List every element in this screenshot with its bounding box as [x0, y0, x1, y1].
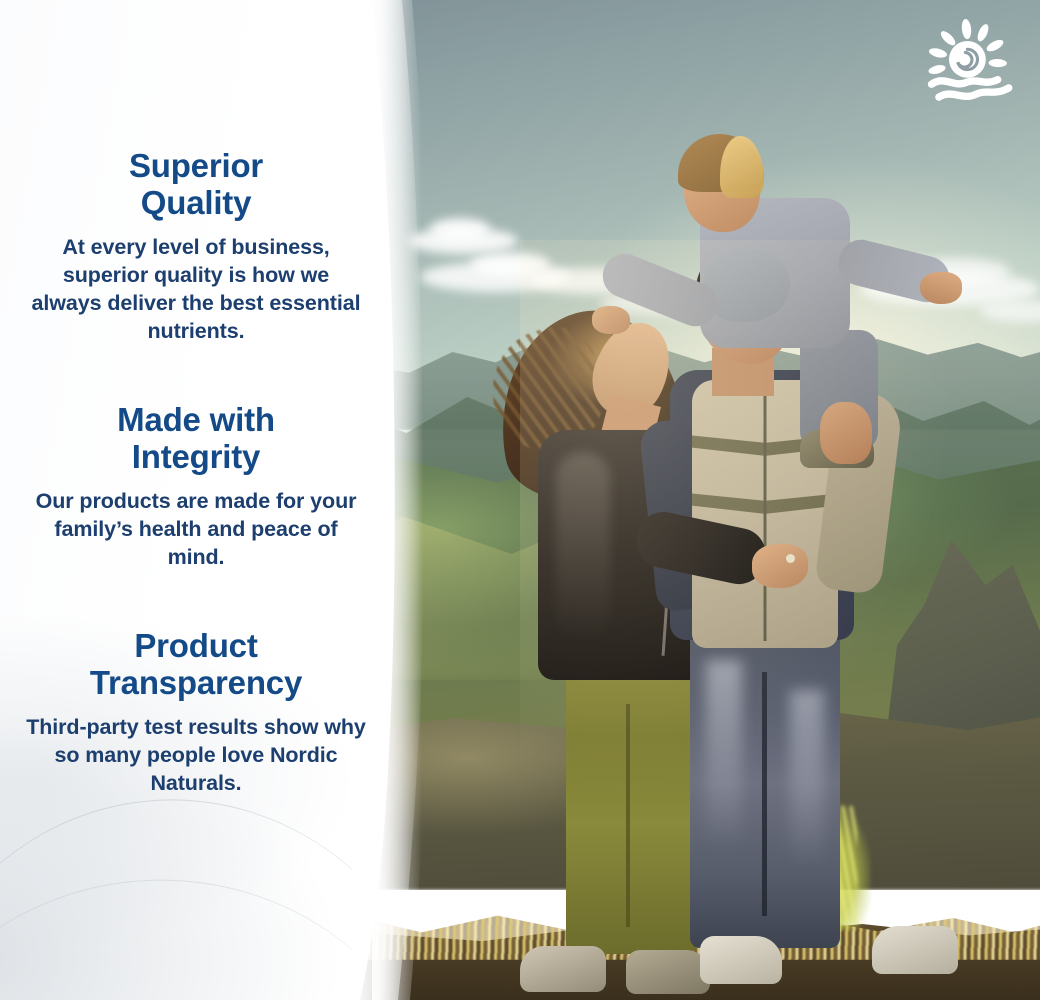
heading-made-with-integrity: Made with Integrity — [26, 402, 366, 476]
value-propositions: Superior Quality At every level of busin… — [0, 0, 400, 1000]
value-block-made-with-integrity: Made with Integrity Our products are mad… — [26, 402, 366, 572]
vest-zipper — [764, 384, 767, 641]
heading-line-1: Superior — [129, 147, 263, 184]
child-hair-highlight — [720, 136, 764, 198]
man-shoe — [872, 926, 958, 974]
woman-hand — [752, 544, 808, 588]
heading-product-transparency: Product Transparency — [26, 628, 366, 702]
body-product-transparency: Third-party test results show why so man… — [26, 714, 366, 798]
heading-line-1: Made with — [117, 401, 275, 438]
body-superior-quality: At every level of business, superior qua… — [26, 234, 366, 346]
jacket-sheen — [556, 452, 610, 642]
promotional-graphic: Superior Quality At every level of busin… — [0, 0, 1040, 1000]
child-left-hand — [920, 272, 962, 304]
heading-superior-quality: Superior Quality — [26, 148, 366, 222]
woman-shoe — [626, 950, 710, 994]
woman-shoe — [520, 946, 606, 992]
value-block-product-transparency: Product Transparency Third-party test re… — [26, 628, 366, 798]
man-shoe — [700, 936, 782, 984]
child-hood — [704, 250, 790, 322]
value-block-superior-quality: Superior Quality At every level of busin… — [26, 148, 366, 346]
heading-line-2: Transparency — [90, 664, 302, 701]
jeans-highlight — [706, 660, 742, 850]
child-right-hand — [592, 306, 630, 334]
woman-olive-pants — [566, 644, 696, 954]
heading-line-2: Quality — [141, 184, 251, 221]
man-hand — [820, 402, 872, 464]
jeans-highlight — [790, 690, 824, 870]
woman-ring — [786, 554, 795, 563]
heading-line-2: Integrity — [132, 438, 260, 475]
heading-line-1: Product — [134, 627, 257, 664]
sun-wave-logo-icon — [926, 18, 1018, 110]
body-made-with-integrity: Our products are made for your family’s … — [26, 488, 366, 572]
